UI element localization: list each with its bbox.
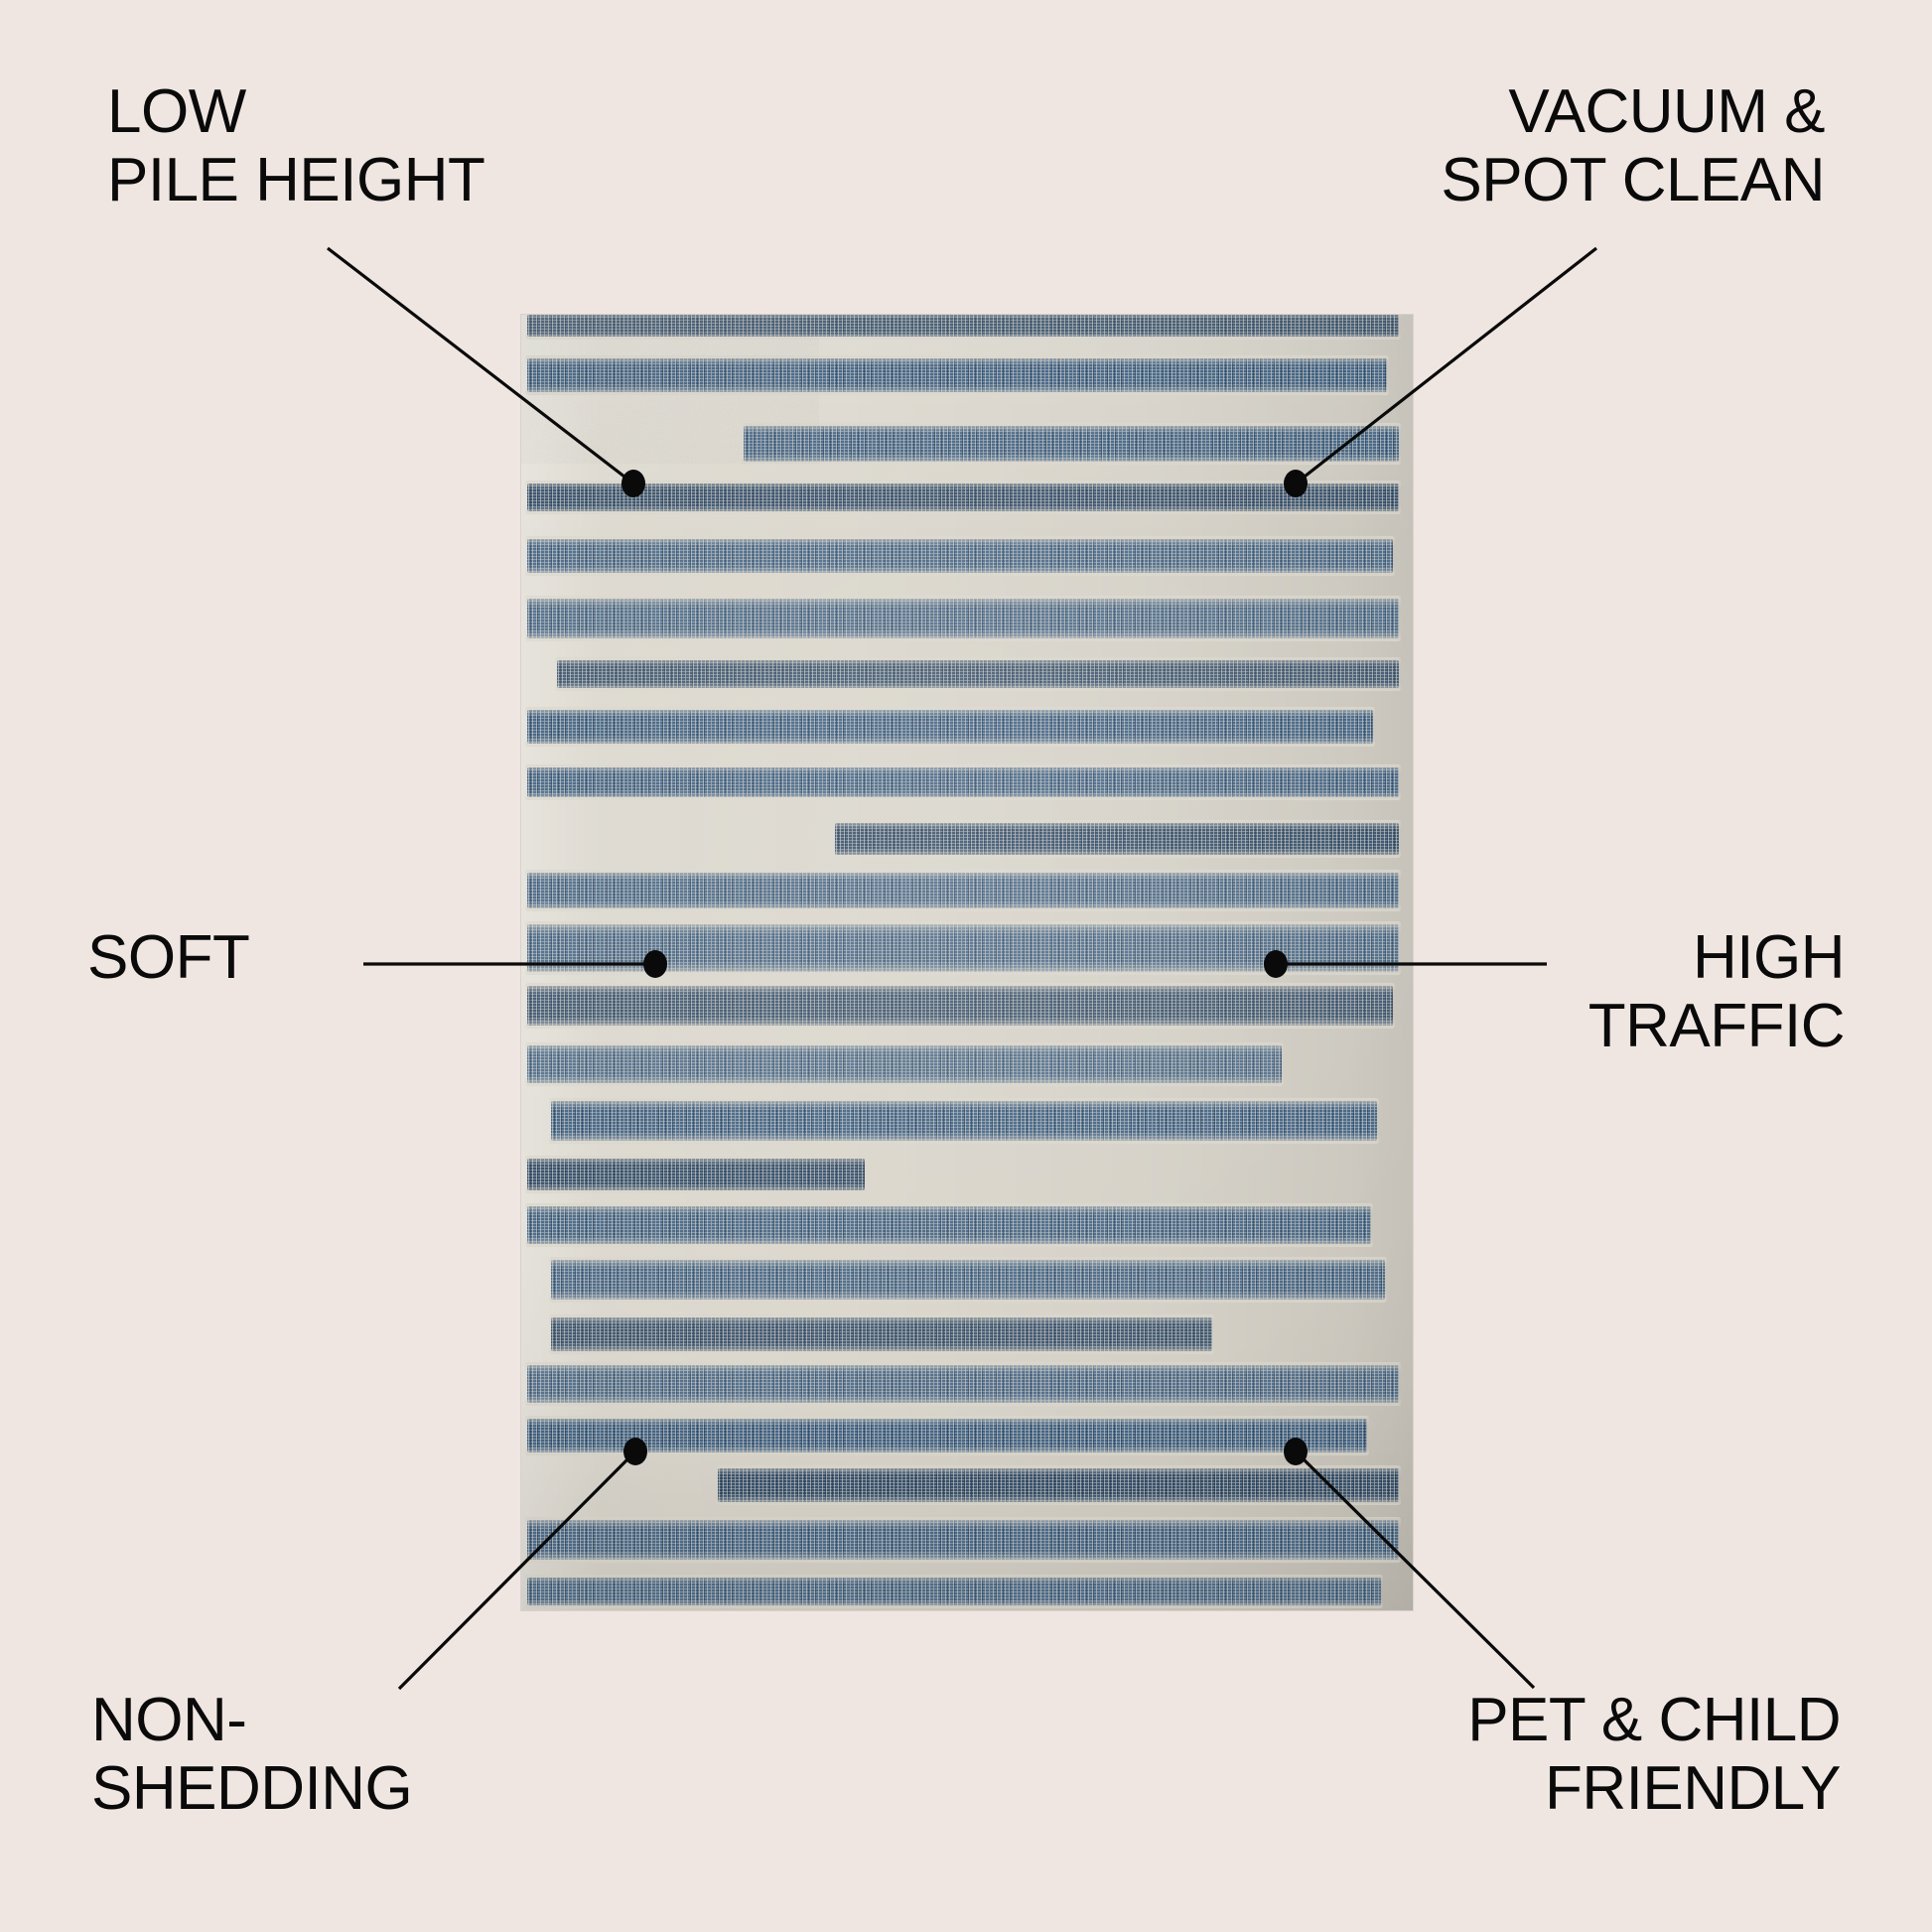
- rug-stripe: [527, 1520, 1399, 1560]
- rug-stripe: [527, 539, 1393, 573]
- rug-stripe: [527, 767, 1399, 797]
- callout-label-soft: SOFT: [87, 923, 249, 992]
- rug-stripe: [527, 1045, 1282, 1083]
- callout-label-vacuum-spot-clean: VACUUM & SPOT CLEAN: [1441, 77, 1825, 215]
- rug-stripe: [527, 483, 1399, 511]
- rug-stripe: [835, 823, 1399, 855]
- rug-wool-texture-light: [521, 315, 819, 464]
- product-image-rug: [521, 315, 1413, 1610]
- rug-stripe: [527, 1365, 1399, 1403]
- rug-stripe: [527, 1578, 1381, 1605]
- rug-stripe: [551, 1101, 1377, 1141]
- rug-stripe: [527, 1419, 1367, 1452]
- rug-stripe: [527, 599, 1399, 638]
- rug-stripe: [551, 1317, 1212, 1351]
- rug-stripe: [527, 873, 1399, 908]
- callout-label-low-pile-height: LOW PILE HEIGHT: [107, 77, 484, 215]
- callout-label-pet-child-friendly: PET & CHILD FRIENDLY: [1467, 1686, 1841, 1824]
- callout-label-high-traffic: HIGH TRAFFIC: [1588, 923, 1845, 1061]
- rug-stripe: [527, 1206, 1371, 1244]
- rug-stripe: [527, 1159, 865, 1190]
- rug-stripe: [527, 924, 1399, 972]
- rug-surface: [521, 315, 1413, 1610]
- rug-stripe: [551, 1260, 1385, 1300]
- rug-stripe: [557, 660, 1399, 688]
- callout-label-non-shedding: NON- SHEDDING: [91, 1686, 412, 1824]
- rug-stripe: [527, 710, 1373, 744]
- rug-stripe: [744, 426, 1399, 462]
- rug-stripe: [527, 986, 1393, 1026]
- infographic-canvas: LOW PILE HEIGHT VACUUM & SPOT CLEAN SOFT…: [0, 0, 1932, 1932]
- rug-stripe: [718, 1468, 1399, 1502]
